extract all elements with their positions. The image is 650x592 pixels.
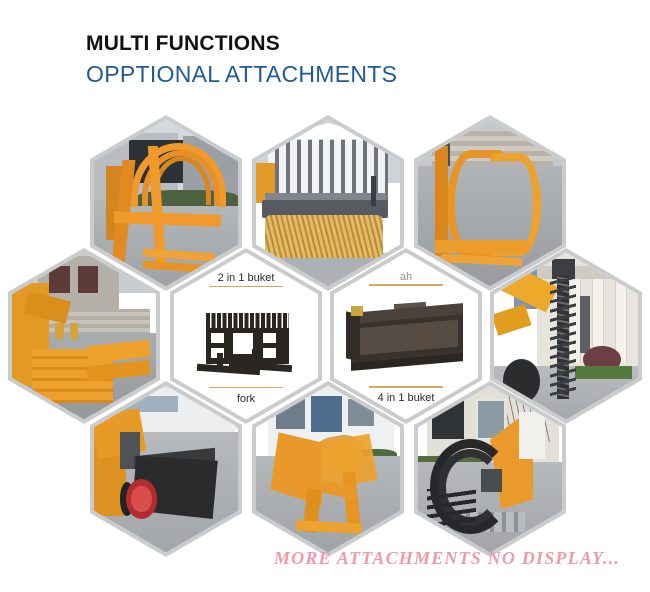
photo-four-in-one-bucket: ah 4 in 1 buket <box>334 253 478 420</box>
grapple-fingers <box>427 489 476 526</box>
photo-log-grapple-fork <box>94 120 238 287</box>
bucket-hinge <box>351 306 363 316</box>
photo-entrance <box>580 296 590 353</box>
photo-window <box>311 396 343 433</box>
bucket-side-plate <box>346 311 360 361</box>
photo-high-dump-snow-bucket <box>256 386 400 553</box>
caption-rule-top <box>209 286 284 288</box>
fork-frame-cutout <box>263 348 276 358</box>
hex-tile-inner: 2 in 1 buket fork <box>174 253 318 420</box>
photo-window-right <box>78 266 98 293</box>
attachments-catalog-page: MULTI FUNCTIONS OPPTIONAL ATTACHMENTS <box>0 0 650 592</box>
photo-roof <box>534 266 638 279</box>
fork-frame-cutout <box>263 333 276 343</box>
photo-roofline <box>268 123 389 140</box>
photo-auger-earth-drill <box>494 253 638 420</box>
broom-bristles <box>265 215 383 258</box>
photo-lawn <box>575 366 633 379</box>
hex-tile-inner <box>494 253 638 420</box>
photo-fork-attachment: 2 in 1 buket fork <box>174 253 318 420</box>
hex-tile-inner <box>256 386 400 553</box>
caption-rule-bottom <box>209 387 284 389</box>
photo-sweeper-collector-bucket <box>94 386 238 553</box>
hex-tile-inner <box>94 120 238 287</box>
photo-lamp-left <box>55 323 64 340</box>
caption-rule-top <box>369 284 444 286</box>
broom-post <box>371 176 375 206</box>
fork-frame-cutout <box>211 333 224 343</box>
hex-tile-inner <box>418 386 562 553</box>
photo-lamp-right <box>70 323 79 340</box>
photo-pallet-fork-loader <box>12 253 156 420</box>
attachment-hex-gallery: 2 in 1 buket fork <box>0 0 650 592</box>
caption-rule-bottom <box>369 386 444 388</box>
roller-brush-hub <box>131 486 151 513</box>
hex-tile-inner <box>94 386 238 553</box>
footer-note: MORE ATTACHMENTS NO DISPLAY... <box>0 548 640 569</box>
hex-tile-inner <box>12 253 156 420</box>
photo-window-left <box>49 266 69 293</box>
machine-cab <box>519 412 545 459</box>
boom-arm-lower <box>494 304 531 335</box>
fork-frame-cutout <box>233 333 253 355</box>
hex-tile-inner: ah 4 in 1 buket <box>334 253 478 420</box>
hex-tile-inner <box>256 120 400 287</box>
hex-tile-inner <box>418 120 562 287</box>
grabber-frame-horizontal <box>435 240 530 253</box>
auger-flighting <box>550 279 576 396</box>
photo-road-sweeper-broom <box>256 120 400 287</box>
photo-log-grabber-claw <box>418 120 562 287</box>
photo-log-grapple-dark-claw <box>418 386 562 553</box>
hex-tile-pallet-fork-loader[interactable] <box>8 248 160 424</box>
